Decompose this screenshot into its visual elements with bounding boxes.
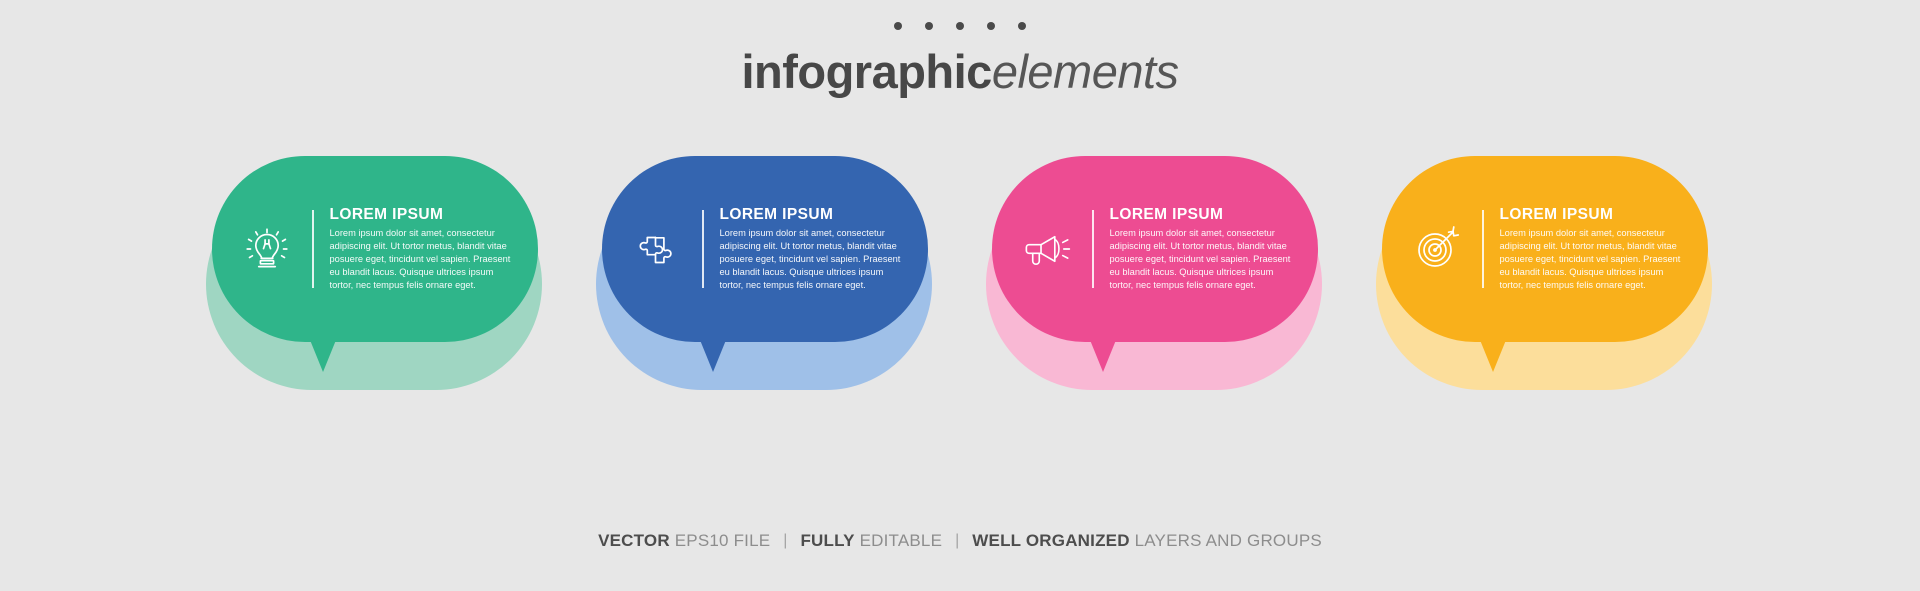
decorative-dot	[894, 22, 902, 30]
megaphone-icon	[1020, 222, 1074, 276]
decorative-dot	[987, 22, 995, 30]
footer-item-editable: FULLY EDITABLE	[800, 531, 942, 551]
card-speech-bubble[interactable]: LOREM IPSUMLorem ipsum dolor sit amet, c…	[212, 156, 538, 342]
page-title-bold: infographic	[741, 45, 991, 98]
card-text-block: LOREM IPSUMLorem ipsum dolor sit amet, c…	[1500, 206, 1683, 293]
decorative-dot-row	[894, 22, 1026, 30]
card-heading: LOREM IPSUM	[1500, 206, 1683, 224]
card-body-text: Lorem ipsum dolor sit amet, consectetur …	[1500, 227, 1683, 293]
page-header: infographicelements	[0, 0, 1920, 98]
card-speech-bubble[interactable]: LOREM IPSUMLorem ipsum dolor sit amet, c…	[602, 156, 928, 342]
footer-organized-rest: LAYERS AND GROUPS	[1130, 531, 1322, 550]
decorative-dot	[956, 22, 964, 30]
card-speech-bubble[interactable]: LOREM IPSUMLorem ipsum dolor sit amet, c…	[992, 156, 1318, 342]
card-speech-tail	[310, 340, 336, 372]
card-heading: LOREM IPSUM	[1110, 206, 1293, 224]
card-divider	[1092, 210, 1094, 288]
card-speech-tail	[1480, 340, 1506, 372]
puzzle-icon	[630, 222, 684, 276]
card-text-block: LOREM IPSUMLorem ipsum dolor sit amet, c…	[720, 206, 903, 293]
infographic-page: { "header": { "dots_count": 5, "title_bo…	[0, 0, 1920, 591]
footer-separator-1: |	[783, 532, 787, 550]
card-heading: LOREM IPSUM	[720, 206, 903, 224]
infographic-card[interactable]: LOREM IPSUMLorem ipsum dolor sit amet, c…	[592, 150, 938, 400]
footer-fully-bold: FULLY	[800, 531, 854, 550]
card-heading: LOREM IPSUM	[330, 206, 513, 224]
decorative-dot	[1018, 22, 1026, 30]
card-text-block: LOREM IPSUMLorem ipsum dolor sit amet, c…	[330, 206, 513, 293]
footer-organized-bold: WELL ORGANIZED	[972, 531, 1129, 550]
lightbulb-icon	[240, 222, 294, 276]
card-divider	[312, 210, 314, 288]
footer-vector-bold: VECTOR	[598, 531, 670, 550]
page-footer: VECTOR EPS10 FILE | FULLY EDITABLE | WEL…	[0, 491, 1920, 591]
card-speech-tail	[1090, 340, 1116, 372]
footer-item-organized: WELL ORGANIZED LAYERS AND GROUPS	[972, 531, 1322, 551]
card-body-text: Lorem ipsum dolor sit amet, consectetur …	[1110, 227, 1293, 293]
infographic-card[interactable]: LOREM IPSUMLorem ipsum dolor sit amet, c…	[202, 150, 548, 400]
card-body-text: Lorem ipsum dolor sit amet, consectetur …	[330, 227, 513, 293]
card-speech-bubble[interactable]: LOREM IPSUMLorem ipsum dolor sit amet, c…	[1382, 156, 1708, 342]
footer-vector-rest: EPS10 FILE	[670, 531, 770, 550]
card-speech-tail	[700, 340, 726, 372]
card-divider	[1482, 210, 1484, 288]
footer-editable-rest: EDITABLE	[855, 531, 942, 550]
infographic-cards-row: LOREM IPSUMLorem ipsum dolor sit amet, c…	[0, 150, 1920, 400]
target-icon	[1410, 222, 1464, 276]
card-body-text: Lorem ipsum dolor sit amet, consectetur …	[720, 227, 903, 293]
footer-separator-2: |	[955, 532, 959, 550]
page-title: infographicelements	[741, 46, 1178, 98]
decorative-dot	[925, 22, 933, 30]
page-title-italic: elements	[992, 45, 1179, 98]
infographic-card[interactable]: LOREM IPSUMLorem ipsum dolor sit amet, c…	[982, 150, 1328, 400]
footer-item-vector: VECTOR EPS10 FILE	[598, 531, 770, 551]
infographic-card[interactable]: LOREM IPSUMLorem ipsum dolor sit amet, c…	[1372, 150, 1718, 400]
card-divider	[702, 210, 704, 288]
card-text-block: LOREM IPSUMLorem ipsum dolor sit amet, c…	[1110, 206, 1293, 293]
